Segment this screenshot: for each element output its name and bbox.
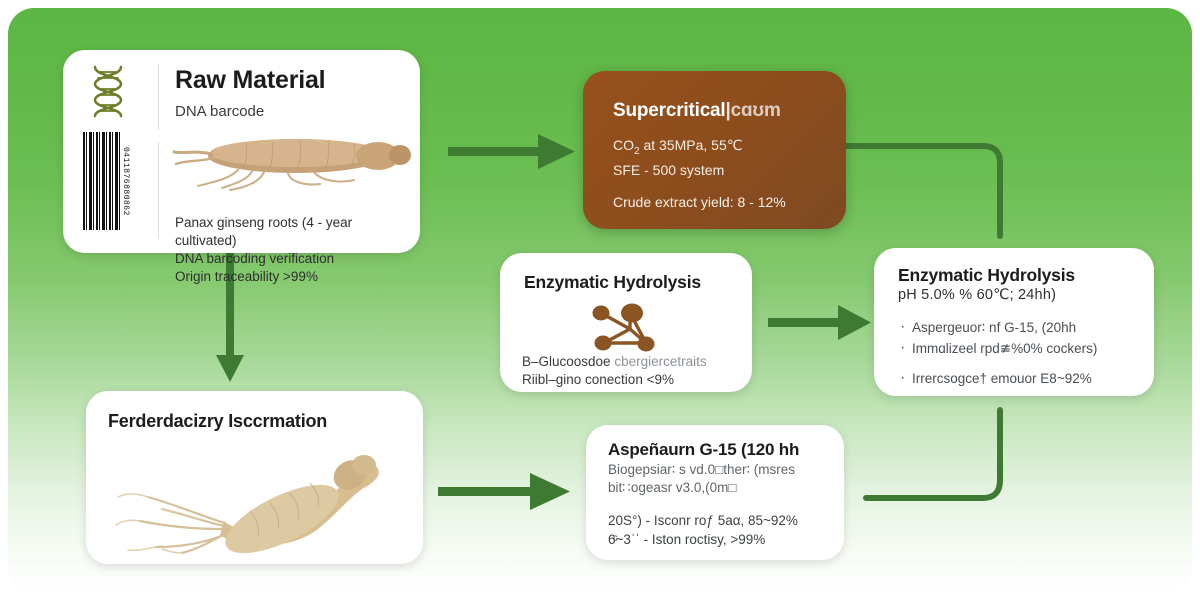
card-subtitle: DNA barcode — [175, 102, 408, 122]
card-title: Enzymatic Hydrolysis — [874, 248, 1154, 286]
aspergillus-stats: 20S°) - Isconr roƒ 5aα, 85~92% 6ͨ~3ˈˈ - … — [586, 497, 844, 549]
raw-material-left-column: 0411876880862 — [63, 50, 155, 253]
arrow-enzmid-to-enzright — [768, 305, 871, 340]
enzymatic-mid-lines: B–Glucoosdoe cbergiercetraits Riibl–gino… — [522, 353, 738, 389]
subtext-line: Biogepsiar∶ s vd.0□ther∶ (msres — [608, 461, 834, 479]
list-item: Immɑlizeel rpd≇%0% cockers) — [900, 338, 1144, 359]
supercritical-parameters: CO2 at 35MPa, 55℃ SFE - 500 system — [613, 136, 846, 180]
card-fermentation[interactable]: Ferderdacizry Isccrmation — [86, 391, 423, 564]
green-gradient-panel: 0411876880862 Raw Material DNA barcode — [8, 8, 1192, 592]
divider-top — [158, 64, 159, 130]
raw-material-detail-lines: Panax ginseng roots (4 - year cultivated… — [175, 214, 412, 286]
card-title-main: Supercritical — [613, 100, 726, 121]
stat-line: 20S°) - Isconr roƒ 5aα, 85~92% — [608, 511, 834, 530]
barcode-digits: 0411876880862 — [120, 132, 131, 230]
arrow-fermentation-to-aspergillus — [438, 473, 570, 510]
param-line-co2: CO2 at 35MPa, 55℃ — [613, 136, 846, 161]
detail-line: Origin traceability >99% — [175, 268, 412, 286]
card-supercritical-extraction[interactable]: Supercritical|cɑʊm CO2 at 35MPa, 55℃ SFE… — [583, 71, 846, 229]
ginseng-root-photo — [112, 449, 402, 554]
molecule-icon — [588, 301, 668, 353]
elbow-supercritical-to-enzright — [840, 146, 1000, 236]
dna-helix-icon — [85, 64, 131, 122]
ginseng-root-photo — [168, 130, 418, 195]
card-enzymatic-hydrolysis-right[interactable]: Enzymatic Hydrolysis pH 5.0% % 60℃; 24hh… — [874, 248, 1154, 396]
barcode-icon: 0411876880862 — [83, 132, 131, 230]
card-title: Raw Material — [175, 65, 408, 95]
detail-line: Panax ginseng roots (4 - year cultivated… — [175, 214, 412, 250]
faint-text: cbergiercetraits — [614, 354, 706, 369]
subtext-line: bit∷ogeasr v3.0,(0m□ — [608, 479, 834, 497]
card-raw-material[interactable]: 0411876880862 Raw Material DNA barcode — [63, 50, 420, 253]
param-line-sfe: SFE - 500 system — [613, 161, 846, 180]
divider-bottom — [158, 142, 159, 238]
card-title: Aspeñaurn G-15 (120 hh — [586, 425, 844, 461]
card-title-garble: cɑʊm — [731, 100, 781, 121]
raw-material-header: Raw Material DNA barcode — [175, 60, 408, 122]
detail-line-1: B–Glucoosdoe cbergiercetraits — [522, 353, 738, 371]
detail-line: DNA barcoding verification — [175, 250, 412, 268]
arrow-raw-to-supercritical — [448, 134, 575, 169]
hydrolysis-conditions: pH 5.0% % 60℃; 24hh) — [874, 286, 1154, 303]
card-aspergillus-g15[interactable]: Aspeñaurn G-15 (120 hh Biogepsiar∶ s vd.… — [586, 425, 844, 560]
crude-extract-yield: Crude extract yield: 8 - 12% — [613, 194, 846, 210]
card-title: Supercritical|cɑʊm — [613, 99, 846, 123]
list-item: Irrercsogce† emouor E8~92% — [900, 368, 1144, 389]
stat-line: 6ͨ~3ˈˈ - Iston roctisy, >99% — [608, 530, 834, 549]
aspergillus-subtext: Biogepsiar∶ s vd.0□ther∶ (msres bit∷ogea… — [586, 461, 844, 497]
detail-line-2: Riibl–gino conection <9% — [522, 371, 738, 389]
diagram-canvas: 0411876880862 Raw Material DNA barcode — [0, 0, 1200, 600]
barcode-bars — [83, 132, 120, 230]
card-enzymatic-hydrolysis-mid[interactable]: Enzymatic Hydrolysis — [500, 253, 752, 392]
elbow-aspergillus-to-enzright — [866, 410, 1000, 498]
list-item: Aspergeuor∶ nf G-15, (20hh — [900, 317, 1144, 338]
hydrolysis-bullet-list: Aspergeuor∶ nf G-15, (20hh Immɑlizeel rp… — [874, 317, 1154, 389]
card-title: Ferderdacizry Isccrmation — [86, 391, 423, 433]
card-title: Enzymatic Hydrolysis — [500, 253, 752, 293]
